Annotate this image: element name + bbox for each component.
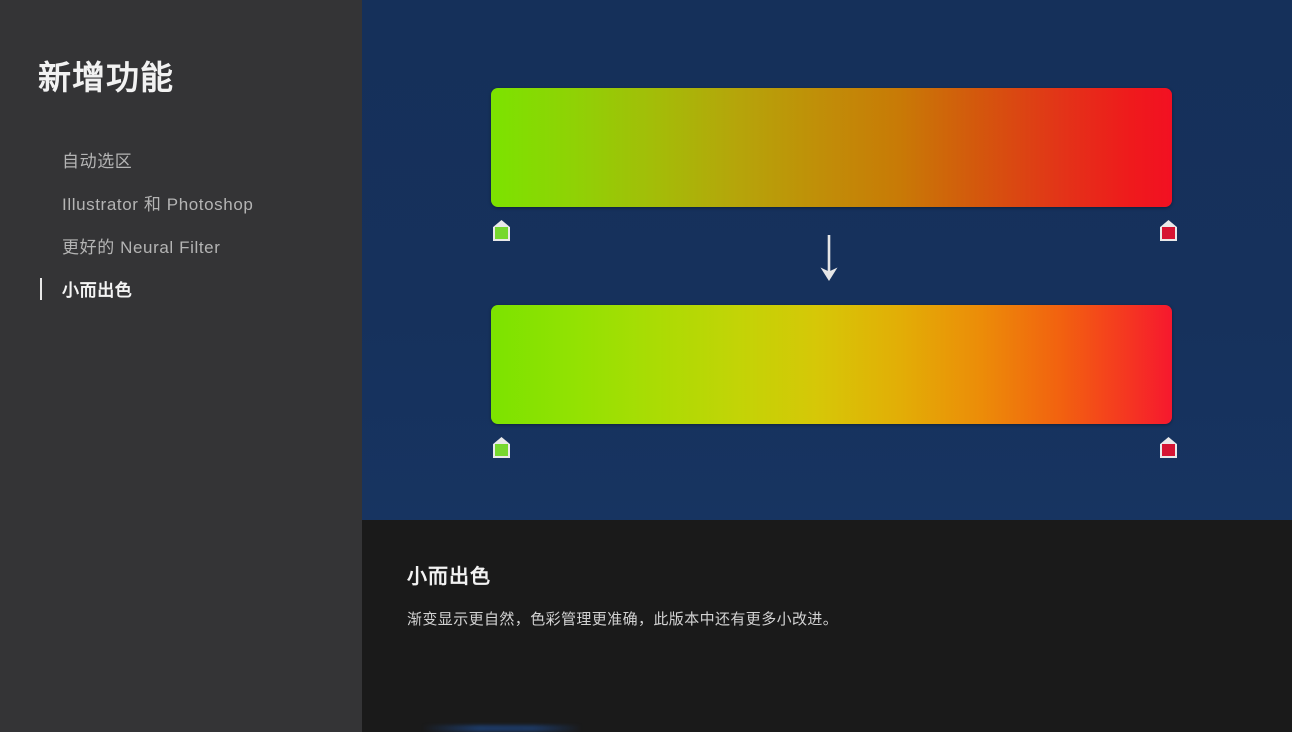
color-swatch <box>495 444 508 456</box>
sidebar-item-label: 自动选区 <box>62 147 132 172</box>
sidebar-item-illustrator-photoshop[interactable]: Illustrator 和 Photoshop <box>0 181 362 224</box>
sidebar-item-neural-filter[interactable]: 更好的 Neural Filter <box>0 224 362 267</box>
sidebar-nav-list: 自动选区 Illustrator 和 Photoshop 更好的 Neural … <box>0 138 362 310</box>
sidebar-item-label: 小而出色 <box>62 276 132 301</box>
sidebar-item-label: Illustrator 和 Photoshop <box>62 190 253 215</box>
color-stop-marker-right-before[interactable] <box>1160 220 1177 241</box>
preview-panel <box>362 0 1292 520</box>
color-stop-marker-left-before[interactable] <box>493 220 510 241</box>
sidebar-item-small-but-great[interactable]: 小而出色 <box>0 267 362 310</box>
color-stop-marker-left-after[interactable] <box>493 437 510 458</box>
app-window: 新增功能 自动选区 Illustrator 和 Photoshop 更好的 Ne… <box>0 0 1292 732</box>
sidebar-item-auto-selection[interactable]: 自动选区 <box>0 138 362 181</box>
sidebar: 新增功能 自动选区 Illustrator 和 Photoshop 更好的 Ne… <box>0 0 362 732</box>
active-indicator-bar <box>40 278 42 300</box>
caption-description: 渐变显示更自然，色彩管理更准确，此版本中还有更多小改进。 <box>407 608 838 629</box>
color-swatch <box>495 227 508 239</box>
sidebar-item-label: 更好的 Neural Filter <box>62 233 221 258</box>
page-title: 新增功能 <box>38 58 174 98</box>
color-stop-marker-right-after[interactable] <box>1160 437 1177 458</box>
arrow-down-icon <box>817 234 841 282</box>
bottom-edge-artifact <box>422 725 582 732</box>
caption-strip: 小而出色 渐变显示更自然，色彩管理更准确，此版本中还有更多小改进。 <box>362 520 1292 732</box>
gradient-bar-after <box>491 305 1172 424</box>
caption-title: 小而出色 <box>407 560 491 589</box>
color-swatch <box>1162 227 1175 239</box>
color-swatch <box>1162 444 1175 456</box>
gradient-bar-before <box>491 88 1172 207</box>
